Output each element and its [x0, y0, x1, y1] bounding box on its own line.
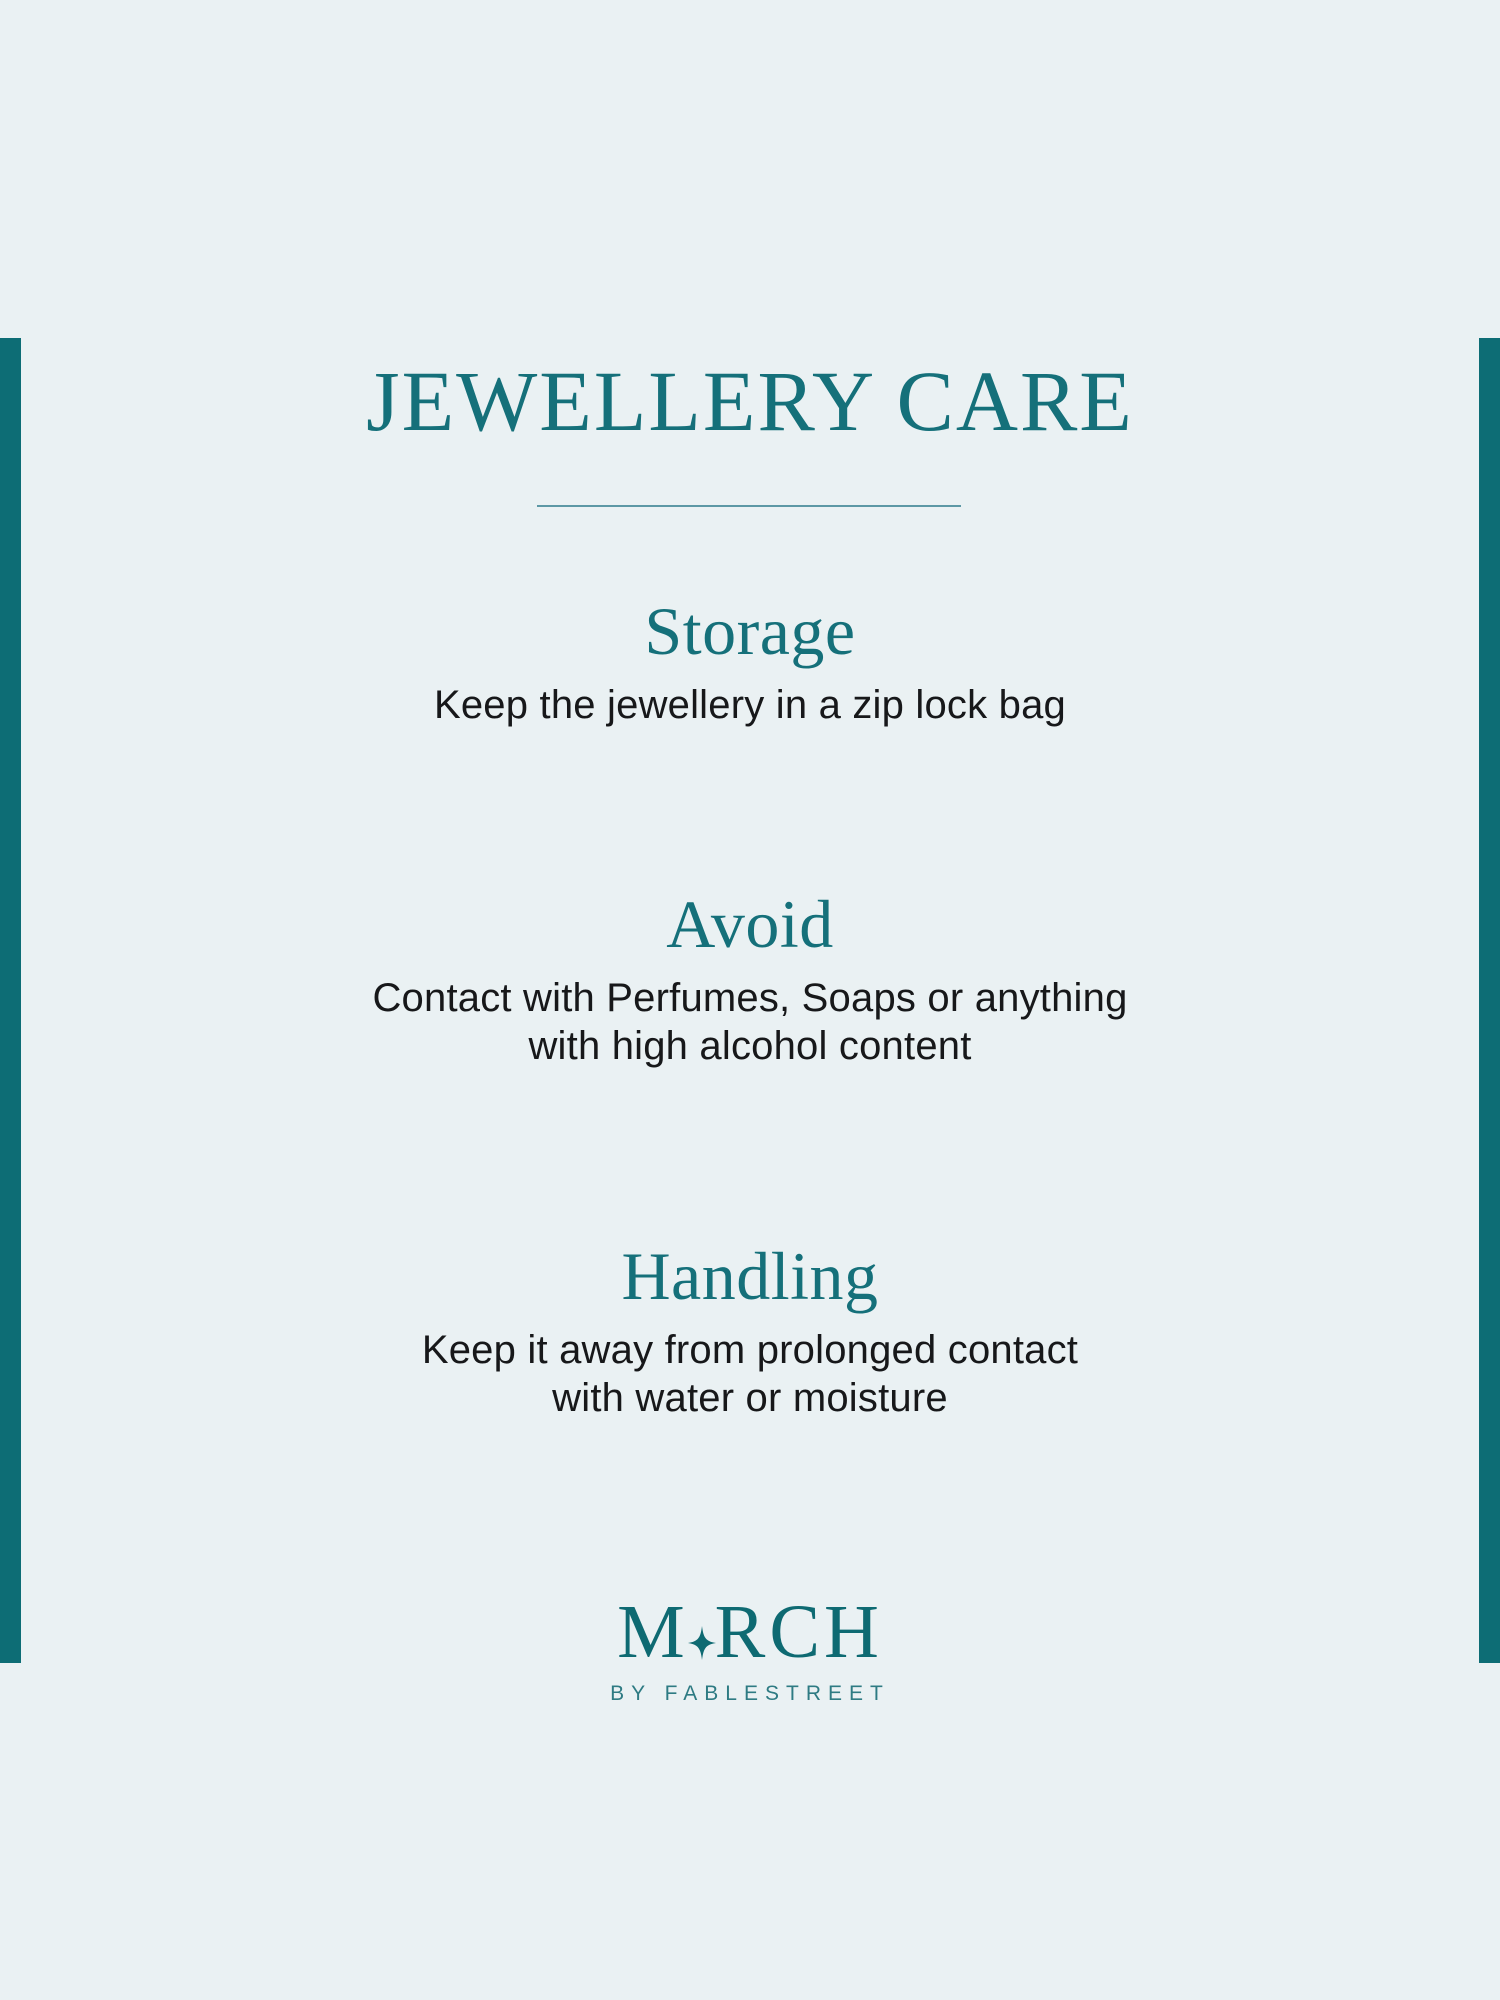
section-handling: Handling Keep it away from prolonged con… — [0, 1240, 1500, 1422]
title-divider — [537, 505, 961, 507]
section-body-storage: Keep the jewellery in a zip lock bag — [0, 682, 1500, 729]
jewellery-care-card: JEWELLERY CARE Storage Keep the jeweller… — [0, 0, 1500, 2000]
section-body-line: with water or moisture — [0, 1375, 1500, 1422]
brand-tagline: BY FABLESTREET — [0, 1682, 1500, 1706]
section-storage: Storage Keep the jewellery in a zip lock… — [0, 595, 1500, 730]
brand-name-part-1: M — [617, 1594, 689, 1670]
brand-name-part-2: RCH — [715, 1594, 883, 1670]
section-heading-handling: Handling — [0, 1240, 1500, 1313]
section-body-line: Keep it away from prolonged contact — [0, 1327, 1500, 1374]
section-body-line: Keep the jewellery in a zip lock bag — [0, 682, 1500, 729]
section-body-avoid: Contact with Perfumes, Soaps or anything… — [0, 975, 1500, 1069]
section-body-line: Contact with Perfumes, Soaps or anything — [0, 975, 1500, 1022]
page-title: JEWELLERY CARE — [0, 358, 1500, 444]
brand-logo: M RCH BY FABLESTREET — [0, 1592, 1500, 1706]
section-body-line: with high alcohol content — [0, 1023, 1500, 1070]
brand-wordmark: M RCH — [617, 1592, 883, 1672]
four-pointed-star-icon — [687, 1592, 717, 1672]
section-avoid: Avoid Contact with Perfumes, Soaps or an… — [0, 888, 1500, 1070]
section-body-handling: Keep it away from prolonged contact with… — [0, 1327, 1500, 1421]
section-heading-avoid: Avoid — [0, 888, 1500, 961]
section-heading-storage: Storage — [0, 595, 1500, 668]
